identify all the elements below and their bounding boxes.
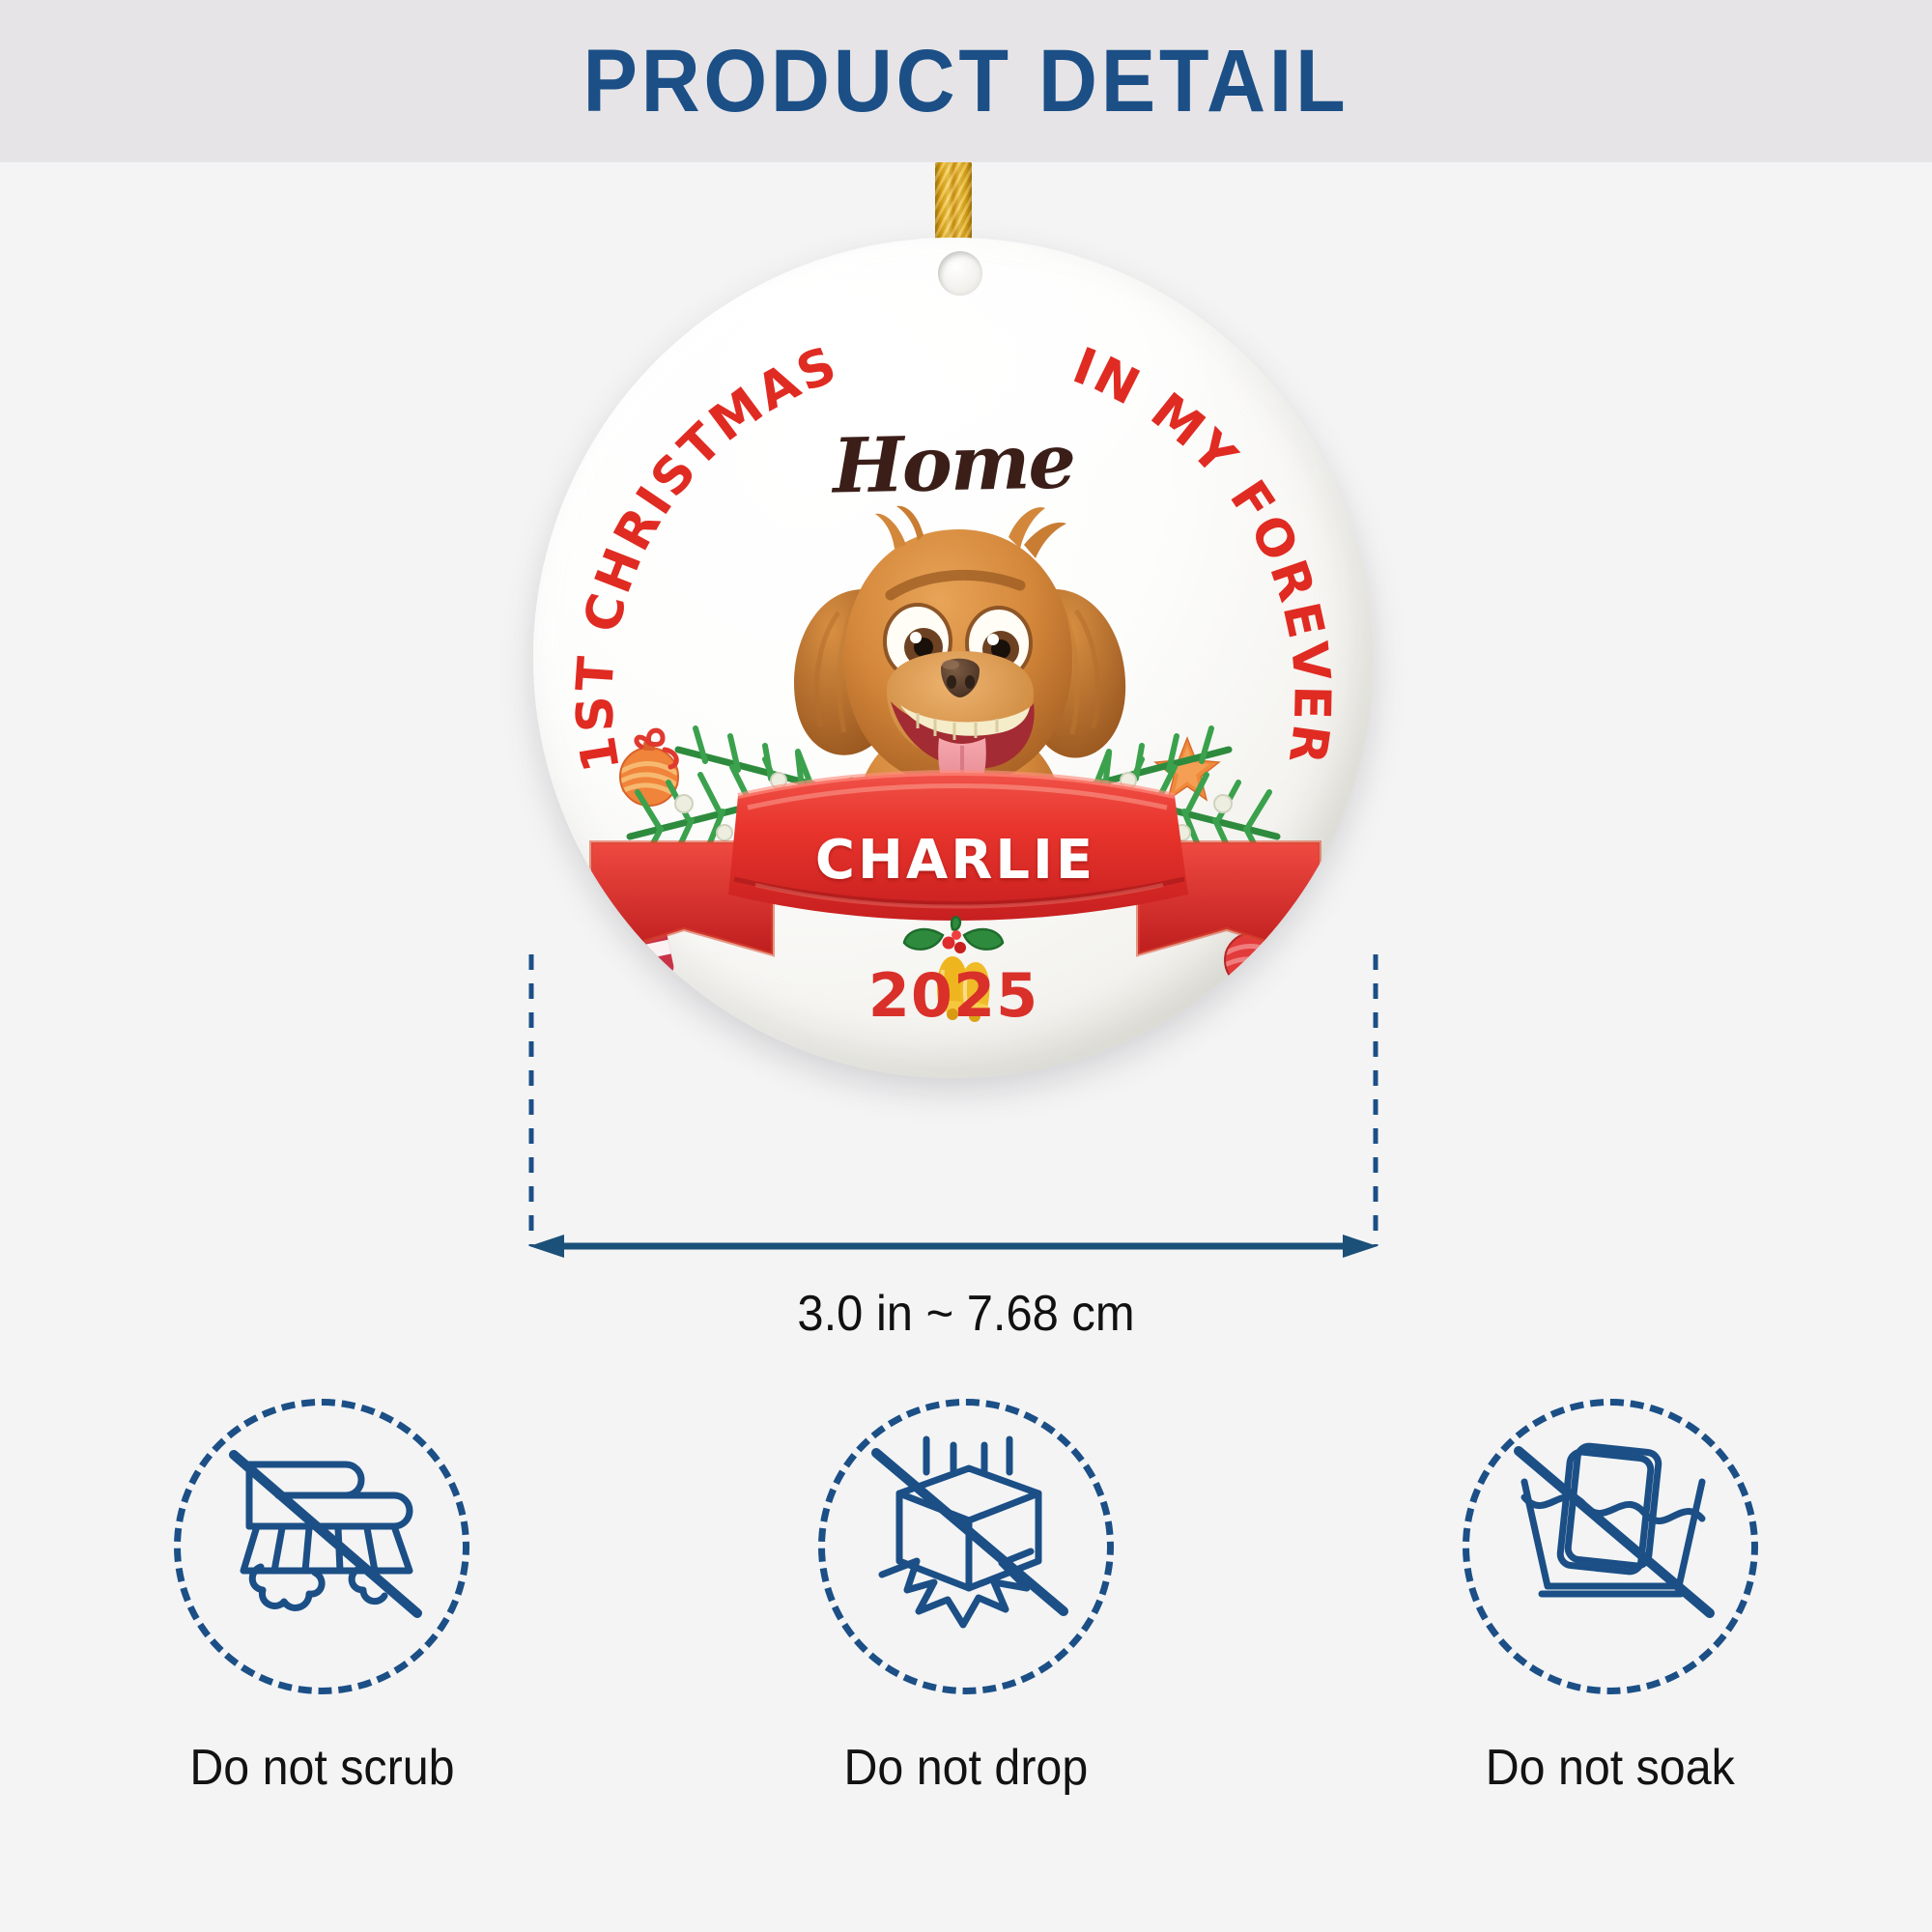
- no-drop-icon: [818, 1399, 1114, 1694]
- header-band: PRODUCT DETAIL: [0, 0, 1932, 162]
- care-item-no-soak: Do not soak: [1288, 1399, 1932, 1862]
- ornament-hanger-hole: [938, 251, 982, 296]
- page-title: PRODUCT DETAIL: [583, 31, 1350, 132]
- ornament-disc: 1ST CHRISTMAS IN MY FOREVER Home: [533, 238, 1374, 1078]
- care-label: Do not scrub: [189, 1739, 454, 1797]
- no-scrub-icon: [174, 1399, 469, 1694]
- dimension-label: 3.0 in ~ 7.68 cm: [557, 1285, 1375, 1343]
- care-label: Do not drop: [844, 1739, 1089, 1797]
- year-label: 2025: [533, 960, 1374, 1031]
- care-label: Do not soak: [1486, 1739, 1735, 1797]
- pet-name: CHARLIE: [583, 829, 1327, 892]
- care-instructions-row: Do not scrub Do not drop: [0, 1399, 1932, 1862]
- product-stage: 1ST CHRISTMAS IN MY FOREVER Home: [0, 162, 1932, 1932]
- no-soak-icon: [1463, 1399, 1758, 1694]
- care-item-no-scrub: Do not scrub: [0, 1399, 644, 1862]
- care-item-no-drop: Do not drop: [644, 1399, 1289, 1862]
